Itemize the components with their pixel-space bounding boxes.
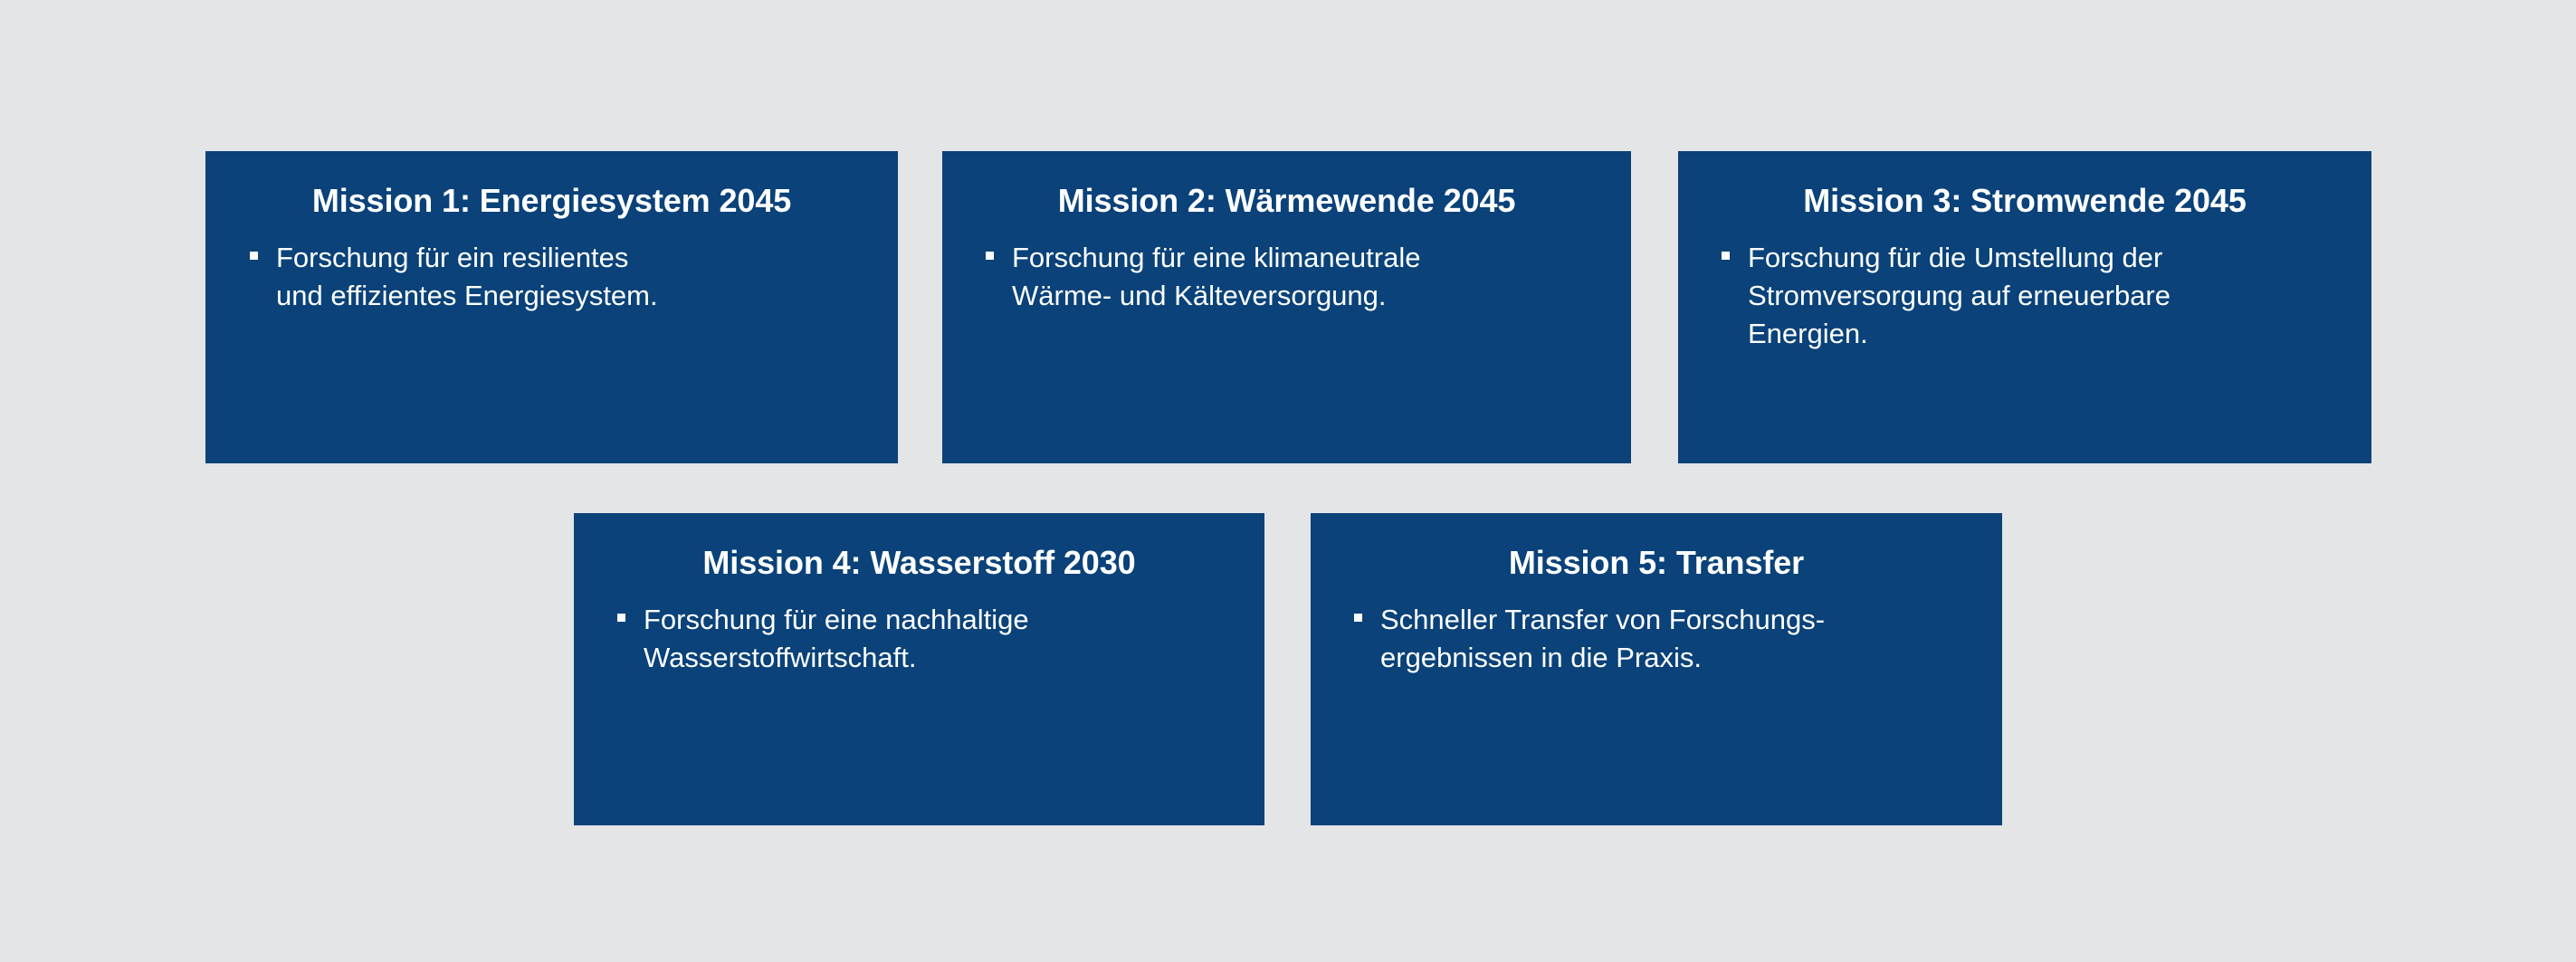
mission-card-2[interactable]: Mission 2: Wärmewende 2045 Forschung für… bbox=[942, 151, 1631, 463]
mission-card-5-bullet-text: Schneller Transfer von Forschungs- ergeb… bbox=[1380, 601, 2002, 677]
list-item: Forschung für die Umstellung der Stromve… bbox=[1722, 239, 2371, 353]
list-item: Schneller Transfer von Forschungs- ergeb… bbox=[1354, 601, 2002, 677]
square-bullet-icon bbox=[1354, 614, 1362, 622]
square-bullet-icon bbox=[1722, 252, 1730, 260]
mission-card-4-bullet-list: Forschung für eine nachhaltige Wassersto… bbox=[617, 601, 1264, 677]
mission-card-2-bullet-list: Forschung für eine klimaneutrale Wärme- … bbox=[986, 239, 1631, 315]
mission-card-4-title: Mission 4: Wasserstoff 2030 bbox=[574, 513, 1264, 582]
mission-card-3-bullet-text: Forschung für die Umstellung der Stromve… bbox=[1748, 239, 2371, 353]
mission-card-2-title: Mission 2: Wärmewende 2045 bbox=[942, 151, 1631, 220]
mission-card-3-bullet-list: Forschung für die Umstellung der Stromve… bbox=[1722, 239, 2371, 353]
mission-card-1-bullet-list: Forschung für ein resilientes und effizi… bbox=[250, 239, 898, 315]
list-item: Forschung für eine klimaneutrale Wärme- … bbox=[986, 239, 1631, 315]
mission-card-5-bullet-list: Schneller Transfer von Forschungs- ergeb… bbox=[1354, 601, 2002, 677]
mission-card-1[interactable]: Mission 1: Energiesystem 2045 Forschung … bbox=[205, 151, 898, 463]
square-bullet-icon bbox=[617, 614, 625, 622]
mission-card-3[interactable]: Mission 3: Stromwende 2045 Forschung für… bbox=[1678, 151, 2371, 463]
mission-card-5-title: Mission 5: Transfer bbox=[1311, 513, 2002, 582]
mission-card-1-bullet-text: Forschung für ein resilientes und effizi… bbox=[276, 239, 898, 315]
mission-card-4[interactable]: Mission 4: Wasserstoff 2030 Forschung fü… bbox=[574, 513, 1264, 825]
mission-card-3-title: Mission 3: Stromwende 2045 bbox=[1678, 151, 2371, 220]
mission-card-5[interactable]: Mission 5: Transfer Schneller Transfer v… bbox=[1311, 513, 2002, 825]
square-bullet-icon bbox=[250, 252, 258, 260]
list-item: Forschung für eine nachhaltige Wassersto… bbox=[617, 601, 1264, 677]
mission-card-1-title: Mission 1: Energiesystem 2045 bbox=[205, 151, 898, 220]
mission-board: Mission 1: Energiesystem 2045 Forschung … bbox=[0, 0, 2576, 962]
mission-card-4-bullet-text: Forschung für eine nachhaltige Wassersto… bbox=[644, 601, 1264, 677]
list-item: Forschung für ein resilientes und effizi… bbox=[250, 239, 898, 315]
mission-card-2-bullet-text: Forschung für eine klimaneutrale Wärme- … bbox=[1012, 239, 1631, 315]
square-bullet-icon bbox=[986, 252, 994, 260]
